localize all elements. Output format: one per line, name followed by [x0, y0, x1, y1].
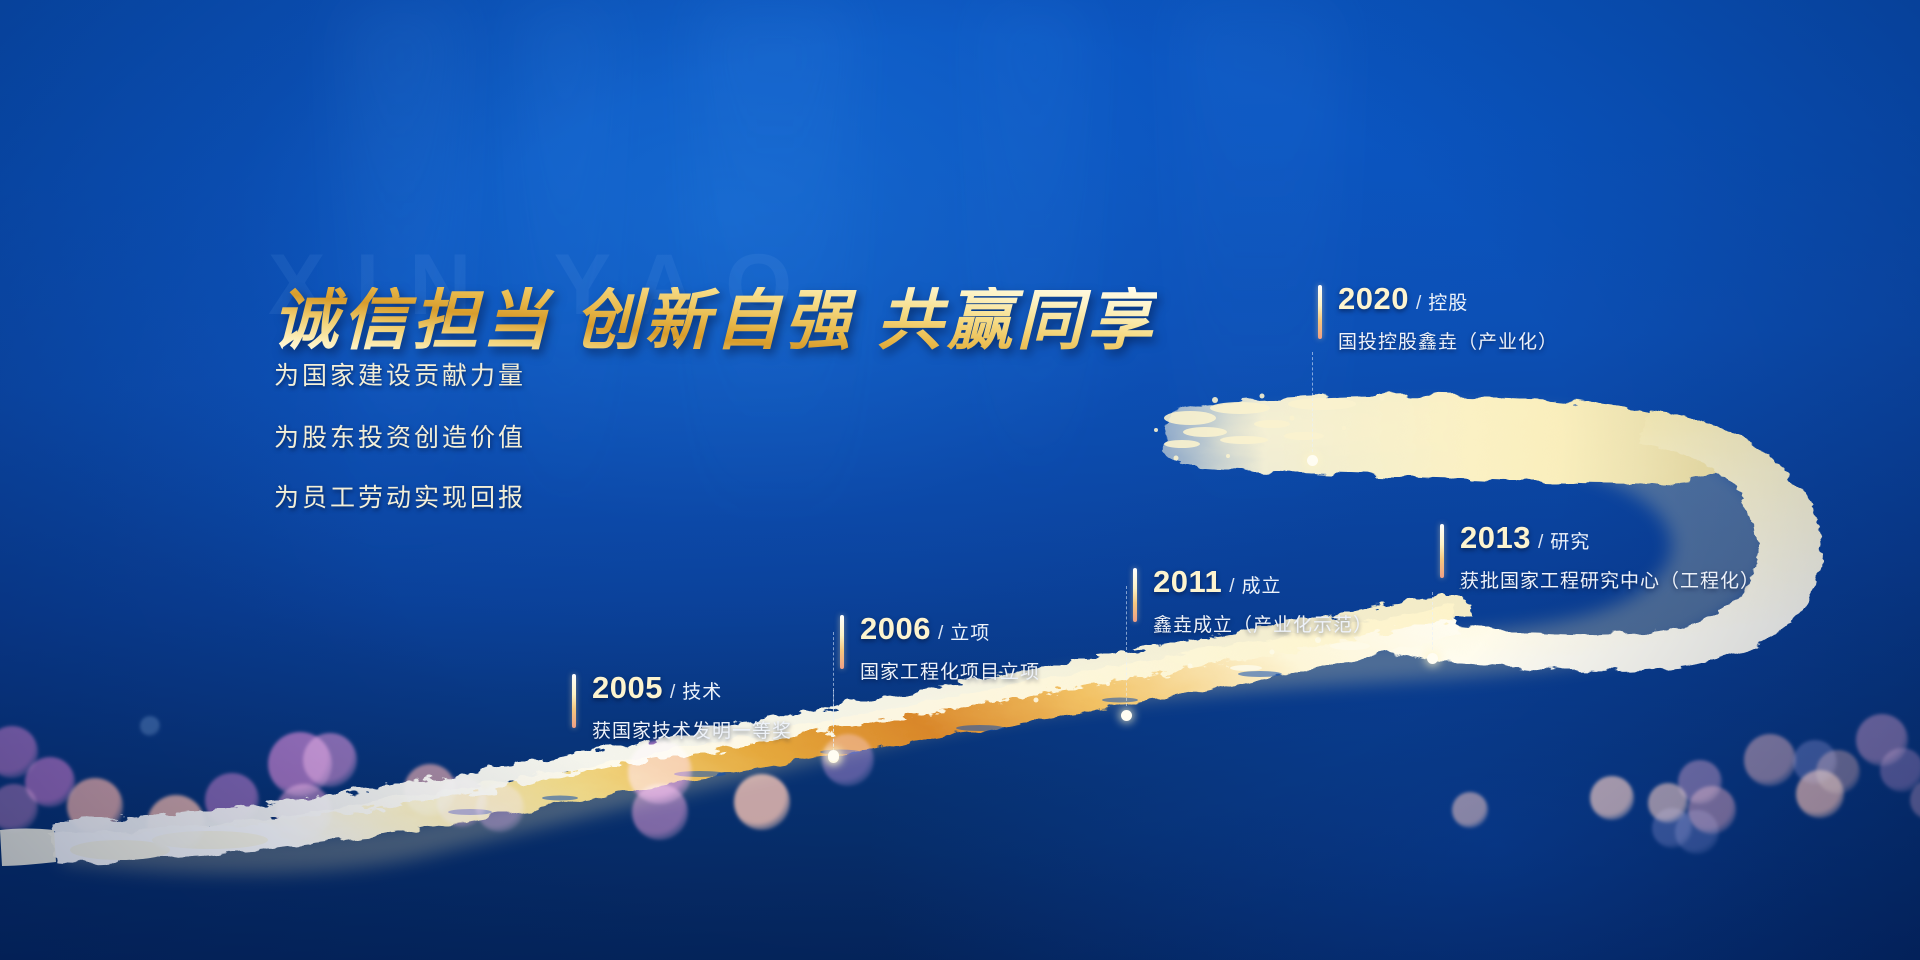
slogan-line-2: 为股东投资创造价值 — [274, 418, 526, 454]
bokeh-left-2 — [25, 757, 75, 807]
milestone-node-dot-2013[interactable] — [1427, 653, 1438, 664]
bokeh-right-14 — [1910, 780, 1920, 820]
bokeh-right-10 — [1652, 808, 1692, 848]
bokeh-right-3 — [1793, 740, 1837, 784]
milestone-2005[interactable]: 2005/技术获国家技术发明一等奖 — [572, 672, 792, 743]
ribbon-splatter-upper — [1154, 394, 1385, 461]
milestone-leader-line-2005 — [833, 690, 834, 756]
milestone-node-dot-2020[interactable] — [1307, 455, 1318, 466]
milestone-body: 2005/技术获国家技术发明一等奖 — [592, 672, 792, 743]
milestone-separator: / — [670, 683, 675, 702]
milestone-leader-line-2020 — [1312, 352, 1313, 452]
milestone-tag: 研究 — [1550, 533, 1590, 552]
bokeh-right-8 — [1688, 786, 1736, 834]
milestone-separator: / — [1538, 533, 1543, 552]
milestone-separator: / — [1416, 294, 1421, 313]
milestone-body: 2020/控股国投控股鑫垚（产业化） — [1338, 283, 1558, 354]
bokeh-right-7 — [1678, 760, 1722, 804]
bokeh-right-9 — [1590, 776, 1634, 820]
milestone-accent-bar — [1440, 524, 1444, 578]
milestone-leader-line-2013 — [1432, 592, 1433, 650]
bokeh-left-10 — [303, 733, 357, 787]
ribbon-splatter-lower — [1034, 637, 1371, 703]
milestone-tag: 技术 — [682, 683, 722, 702]
milestone-year: 2020 — [1338, 283, 1409, 314]
light-column-4 — [980, 0, 1090, 560]
bokeh-left-5 — [140, 716, 160, 736]
milestone-leader-line-2011 — [1126, 586, 1127, 706]
light-column-2 — [520, 0, 610, 560]
bokeh-left-12 — [437, 777, 487, 827]
bokeh-right-5 — [1856, 714, 1908, 766]
milestone-description: 国投控股鑫垚（产业化） — [1338, 327, 1558, 354]
bokeh-right-11 — [1675, 810, 1719, 854]
bokeh-right-12 — [1648, 783, 1688, 823]
page-title: 诚信担当 创新自强 共赢同享 — [272, 287, 1157, 353]
milestone-year: 2011 — [1153, 566, 1222, 597]
bokeh-right-1 — [1796, 770, 1844, 818]
milestone-year: 2013 — [1460, 522, 1531, 553]
milestone-tag: 立项 — [950, 624, 990, 643]
milestone-node-dot-2011[interactable] — [1121, 710, 1132, 721]
milestone-year-row: 2006/立项 — [860, 613, 1040, 644]
bokeh-left-11 — [404, 764, 456, 816]
bokeh-left-7 — [205, 773, 259, 827]
slogan-line-1: 为国家建设贡献力量 — [274, 356, 526, 392]
light-column-1 — [340, 0, 460, 560]
milestone-year-row: 2020/控股 — [1338, 283, 1558, 314]
milestone-separator: / — [1229, 577, 1234, 596]
bokeh-left-13 — [476, 784, 524, 832]
milestone-year-row: 2011/成立 — [1153, 566, 1373, 597]
bokeh-right-4 — [1816, 750, 1860, 794]
milestone-body: 2006/立项国家工程化项目立项 — [860, 613, 1040, 684]
bokeh-right-13 — [1452, 792, 1488, 828]
milestone-accent-bar — [572, 674, 576, 728]
bokeh-left-4 — [67, 778, 123, 834]
milestone-description: 获批国家工程研究中心（工程化） — [1460, 566, 1760, 593]
milestone-year-row: 2005/技术 — [592, 672, 792, 703]
bokeh-left-16 — [734, 774, 790, 830]
milestone-year: 2005 — [592, 672, 663, 703]
milestone-body: 2013/研究获批国家工程研究中心（工程化） — [1460, 522, 1760, 593]
bokeh-left-6 — [147, 795, 205, 853]
banner-canvas: XIN YAO 诚信担当 创新自强 共赢同享 为国家建设贡献力量 为股东投资创造… — [0, 0, 1920, 960]
milestone-accent-bar — [1318, 285, 1322, 339]
bokeh-left-8 — [268, 732, 332, 796]
light-column-5 — [1180, 0, 1340, 560]
bokeh-left-3 — [0, 784, 38, 832]
bokeh-left-14 — [628, 740, 692, 804]
milestone-year-row: 2013/研究 — [1460, 522, 1760, 553]
milestone-description: 获国家技术发明一等奖 — [592, 716, 792, 743]
milestone-description: 鑫垚成立（产业化示范） — [1153, 610, 1373, 637]
milestone-accent-bar — [1133, 568, 1137, 622]
milestone-2020[interactable]: 2020/控股国投控股鑫垚（产业化） — [1318, 283, 1558, 354]
milestone-tag: 成立 — [1242, 577, 1282, 596]
milestone-leader-line-2006 — [833, 632, 834, 747]
milestone-accent-bar — [840, 615, 844, 669]
bokeh-left-9 — [276, 784, 332, 840]
ribbon-tail-tip — [0, 829, 268, 867]
milestone-body: 2011/成立鑫垚成立（产业化示范） — [1153, 566, 1373, 637]
bokeh-right-2 — [1744, 734, 1796, 786]
milestone-description: 国家工程化项目立项 — [860, 657, 1040, 684]
milestone-node-dot-2006[interactable] — [828, 750, 839, 761]
milestone-year: 2006 — [860, 613, 931, 644]
milestone-2006[interactable]: 2006/立项国家工程化项目立项 — [840, 613, 1040, 684]
light-column-3 — [700, 0, 850, 560]
slogan-line-3: 为员工劳动实现回报 — [274, 478, 526, 514]
bokeh-right-6 — [1880, 748, 1920, 792]
milestone-2013[interactable]: 2013/研究获批国家工程研究中心（工程化） — [1440, 522, 1760, 593]
bokeh-left-1 — [0, 726, 38, 778]
bokeh-left-15 — [632, 784, 688, 840]
milestone-separator: / — [938, 624, 943, 643]
milestone-2011[interactable]: 2011/成立鑫垚成立（产业化示范） — [1133, 566, 1373, 637]
milestone-tag: 控股 — [1428, 294, 1468, 313]
